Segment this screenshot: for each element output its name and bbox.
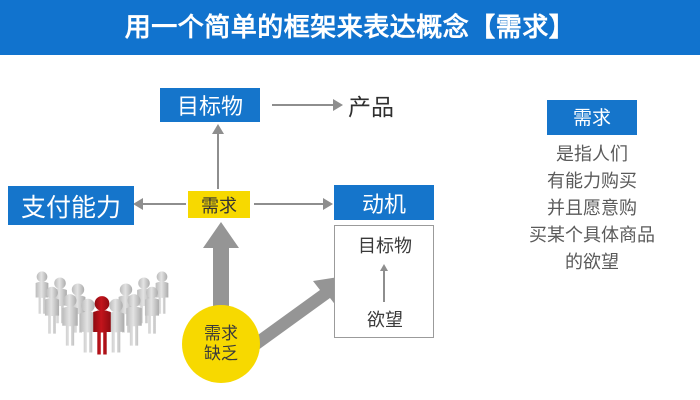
definition-line: 并且愿意购 — [492, 195, 692, 222]
node-target-object-label: 目标物 — [177, 89, 243, 121]
node-product: 产品 — [348, 88, 438, 122]
motive-body-top-label: 目标物 — [335, 232, 435, 258]
arrow-target-object-to-product — [272, 104, 334, 106]
node-motive-label: 动机 — [362, 187, 406, 219]
node-payment-ability-label: 支付能力 — [21, 188, 121, 224]
node-motive-body: 目标物 欲望 — [334, 225, 434, 338]
node-demand[interactable]: 需求 — [188, 191, 250, 218]
node-demand-lack-line1: 需求 — [204, 324, 238, 344]
definition-line: 是指人们 — [492, 141, 692, 168]
header-bar: 用一个简单的框架来表达概念【需求】 — [0, 0, 700, 55]
node-product-label: 产品 — [348, 88, 394, 122]
definition-line: 有能力购买 — [492, 168, 692, 195]
arrow-demand-to-target-object — [217, 133, 219, 189]
node-target-object[interactable]: 目标物 — [160, 88, 260, 122]
node-payment-ability[interactable]: 支付能力 — [8, 186, 134, 225]
definition-line: 买某个具体商品 — [492, 222, 692, 249]
definition-line: 的欲望 — [492, 249, 692, 276]
red-person-icon — [93, 296, 111, 354]
node-motive-header[interactable]: 动机 — [334, 185, 434, 220]
definition-panel: 需求 是指人们 有能力购买 并且愿意购 买某个具体商品 的欲望 — [492, 100, 692, 276]
thick-arrow-demand-lack-to-demand — [203, 222, 239, 315]
node-demand-label: 需求 — [201, 192, 237, 218]
node-demand-lack-line2: 缺乏 — [204, 344, 238, 364]
arrow-demand-to-motive — [254, 203, 324, 205]
definition-badge: 需求 — [547, 100, 637, 135]
definition-text: 是指人们 有能力购买 并且愿意购 买某个具体商品 的欲望 — [492, 141, 692, 276]
diagram-page: 用一个简单的框架来表达概念【需求】 — [0, 0, 700, 400]
motive-body-bottom-label: 欲望 — [335, 306, 435, 332]
node-demand-lack[interactable]: 需求 缺乏 — [182, 305, 260, 383]
crowd-of-people-illustration — [22, 252, 182, 360]
page-title: 用一个简单的框架来表达概念【需求】 — [0, 0, 700, 55]
arrow-desire-to-target-object — [383, 270, 385, 302]
arrow-demand-to-payment-ability — [142, 203, 186, 205]
